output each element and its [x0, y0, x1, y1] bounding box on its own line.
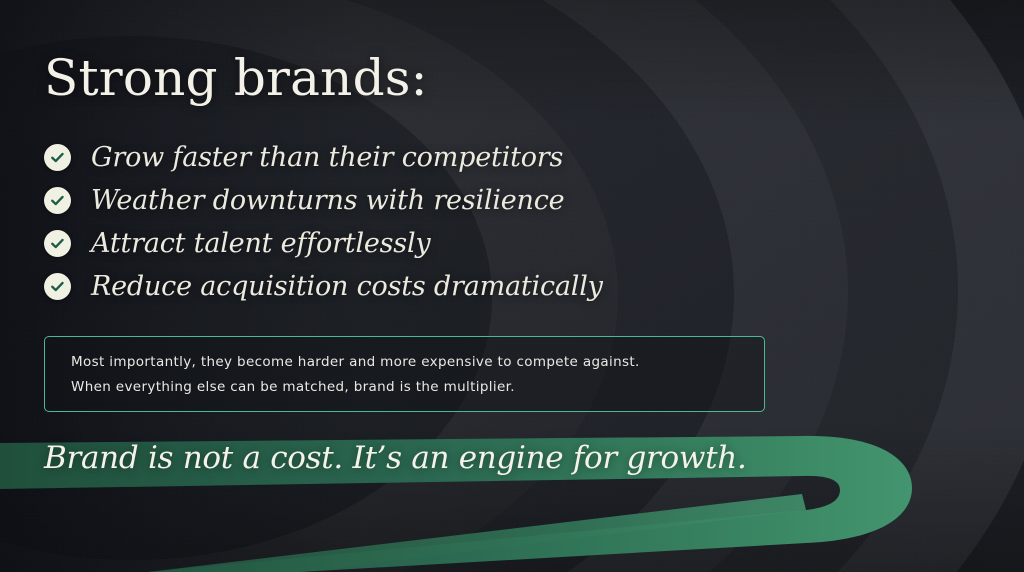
benefits-list: Grow faster than their competitors Weath…: [44, 140, 603, 303]
callout-line-2: When everything else can be matched, bra…: [71, 375, 764, 400]
callout-line-1: Most importantly, they become harder and…: [71, 350, 764, 375]
list-item: Attract talent effortlessly: [44, 226, 603, 260]
slide-content: Strong brands: Grow faster than their co…: [0, 0, 1024, 572]
list-item: Weather downturns with resilience: [44, 183, 603, 217]
callout-box: Most importantly, they become harder and…: [44, 336, 765, 412]
closing-quote: Brand is not a cost. It’s an engine for …: [44, 443, 747, 474]
check-circle-icon: [44, 187, 71, 214]
check-circle-icon: [44, 144, 71, 171]
list-item-label: Reduce acquisition costs dramatically: [91, 273, 603, 300]
list-item-label: Grow faster than their competitors: [91, 144, 563, 171]
list-item-label: Attract talent effortlessly: [91, 230, 430, 257]
check-circle-icon: [44, 230, 71, 257]
list-item-label: Weather downturns with resilience: [91, 187, 564, 214]
list-item: Grow faster than their competitors: [44, 140, 603, 174]
slide-canvas: Strong brands: Grow faster than their co…: [0, 0, 1024, 572]
check-circle-icon: [44, 273, 71, 300]
list-item: Reduce acquisition costs dramatically: [44, 269, 603, 303]
page-title: Strong brands:: [44, 52, 428, 105]
